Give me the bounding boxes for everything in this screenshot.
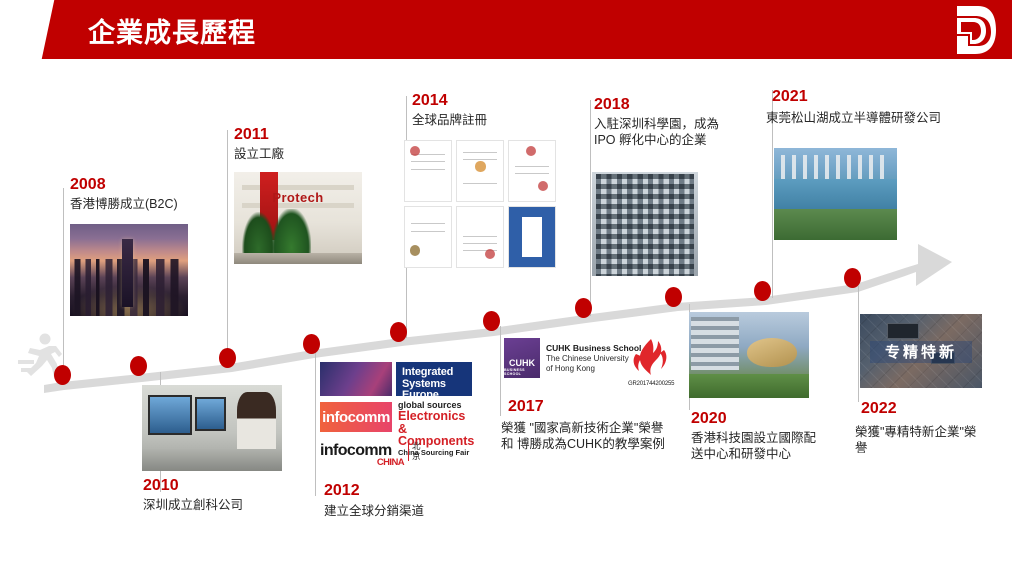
infocomm-logo: infocomm: [320, 402, 392, 432]
milestone-desc-2017: 榮獲 "國家高新技術企業"榮譽 和 博勝成為CUHK的教學案例: [501, 420, 687, 452]
ise-logo-line1: Integrated: [402, 366, 453, 378]
connector-line-2017: [500, 326, 501, 416]
timeline-dot-2012[interactable]: [303, 334, 320, 354]
certificate-1: [404, 140, 452, 202]
milestone-desc-2008: 香港博勝成立(B2C): [70, 196, 178, 212]
page-title: 企業成長歷程: [88, 11, 256, 50]
milestone-desc-2017-line2: 和 博勝成為CUHK的教學案例: [501, 436, 687, 452]
trade-show-logos: Integrated Systems Europe infocomm globa…: [320, 362, 472, 472]
cuhk-crest-icon: CUHK BUSINESS SCHOOL: [504, 338, 540, 378]
cuhk-and-hightech-logos: CUHK BUSINESS SCHOOL CUHK Business Schoo…: [504, 338, 668, 392]
milestone-desc-2018: 入駐深圳科學園，成為 IPO 孵化中心的企業: [594, 116, 764, 148]
connector-line-2008: [63, 188, 64, 380]
milestone-desc-2021: 東莞松山湖成立半導體研發公司: [766, 110, 941, 126]
milestone-year-2010: 2010: [143, 477, 179, 495]
ise-logo-line2: Systems: [402, 378, 446, 390]
connector-line-2012: [315, 348, 316, 496]
factory-interior-photo: Protech: [234, 172, 362, 264]
timeline-dot-2018[interactable]: [575, 298, 592, 318]
milestone-year-2021: 2021: [772, 88, 808, 106]
milestone-desc-2017-line1: 榮獲 "國家高新技術企業"榮譽: [501, 420, 687, 436]
hightech-cert-number: GR201744200255: [628, 381, 672, 387]
milestone-desc-2012: 建立全球分銷渠道: [324, 503, 424, 519]
circuit-board-photo: 专精特新: [860, 314, 982, 388]
timeline-dot-2014[interactable]: [390, 322, 407, 342]
certificate-5: [456, 206, 504, 268]
timeline-dot-2017[interactable]: [483, 311, 500, 331]
timeline-dot-2008[interactable]: [54, 365, 71, 385]
milestone-desc-2020-line2: 送中心和研發中心: [691, 446, 821, 462]
songshan-lake-aerial-photo: [774, 148, 897, 240]
circuit-board-overlay-text: 专精特新: [870, 341, 973, 363]
hk-science-park-photo: [689, 312, 809, 398]
milestone-year-2018: 2018: [594, 96, 630, 114]
cuhk-text-line2: The Chinese University: [546, 354, 629, 363]
ise-logo: Integrated Systems Europe: [396, 362, 472, 396]
cuhk-crest-label: CUHK: [509, 358, 535, 368]
timeline-dot-2022[interactable]: [844, 268, 861, 288]
milestone-desc-2010: 深圳成立創科公司: [143, 497, 243, 513]
slide-canvas: 企業成長歷程: [0, 0, 1012, 574]
milestone-desc-2018-line2: IPO 孵化中心的企業: [594, 132, 764, 148]
trade-show-booth-photo: [320, 362, 392, 396]
milestone-desc-2022-line1: 榮獲"專精特新企業"榮: [855, 424, 985, 440]
milestone-desc-2018-line1: 入駐深圳科學園，成為: [594, 116, 764, 132]
certificate-2: [456, 140, 504, 202]
connector-line-2022: [858, 286, 859, 402]
factory-photo-logo-text: Protech: [272, 190, 323, 205]
milestone-year-2012: 2012: [324, 482, 360, 500]
certificate-4: [404, 206, 452, 268]
milestone-desc-2014: 全球品牌註冊: [412, 112, 487, 128]
lab-workstation-photo: [142, 385, 282, 471]
milestone-desc-2020-line1: 香港科技園設立國際配: [691, 430, 821, 446]
connector-line-2011: [227, 130, 228, 368]
milestone-year-2020: 2020: [691, 410, 727, 428]
milestone-year-2017: 2017: [508, 398, 544, 416]
cuhk-text-line3: of Hong Kong: [546, 364, 595, 373]
timeline-dot-2010[interactable]: [130, 356, 147, 376]
milestone-desc-2022: 榮獲"專精特新企業"榮 譽: [855, 424, 985, 456]
beijing-char-2: 京: [412, 452, 421, 462]
milestone-desc-2020: 香港科技園設立國際配 送中心和研發中心: [691, 430, 821, 462]
infocomm-china-logo: infocomm CHINA: [320, 442, 404, 468]
timeline-dot-2020[interactable]: [665, 287, 682, 307]
certificate-6: [508, 206, 556, 268]
global-sources-main-line1: Electronics &: [398, 410, 472, 435]
milestone-desc-2022-line2: 譽: [855, 440, 985, 456]
timeline-dot-2011[interactable]: [219, 348, 236, 368]
science-park-tower-photo: [592, 172, 698, 276]
connector-line-2018: [590, 100, 591, 316]
cuhk-crest-sublabel: BUSINESS SCHOOL: [504, 368, 540, 376]
milestone-year-2022: 2022: [861, 400, 897, 418]
hightech-flame-icon: [630, 338, 670, 376]
protech-p-logo: [948, 5, 998, 55]
milestone-year-2011: 2011: [234, 126, 269, 144]
milestone-desc-2011: 設立工廠: [234, 146, 284, 162]
header-band: 企業成長歷程: [0, 0, 1012, 59]
milestone-year-2008: 2008: [70, 176, 106, 194]
hightech-enterprise-logo: GR201744200255: [628, 338, 672, 387]
infocomm-china-beijing-cn: 北 京: [408, 442, 421, 461]
timeline-dot-2021[interactable]: [754, 281, 771, 301]
certificate-3: [508, 140, 556, 202]
hong-kong-skyline-photo: [70, 224, 188, 316]
trademark-certificates-grid: [404, 140, 556, 268]
milestone-year-2014: 2014: [412, 92, 448, 110]
